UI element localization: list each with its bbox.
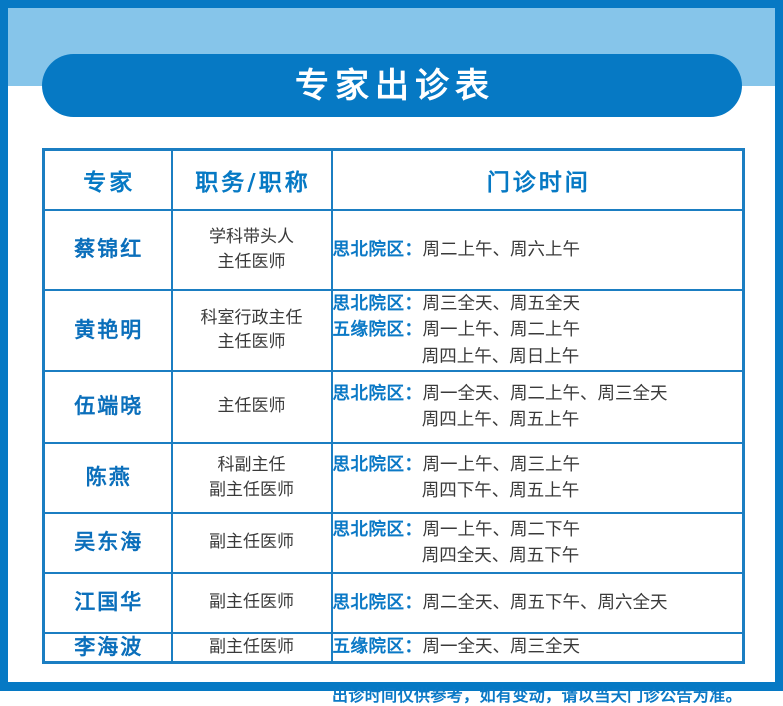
campus-label: 五缘院区：: [333, 320, 423, 340]
table-head: 专家 职务/职称 门诊时间: [44, 150, 744, 211]
schedule-text: 周一全天、周三全天: [423, 637, 581, 657]
schedule-line: 思北院区：周二全天、周五下午、周六全天: [333, 590, 743, 616]
schedule-text: 周一全天、周二上午、周三全天: [423, 384, 668, 404]
campus-schedule-group: 五缘院区：周一全天、周三全天: [333, 634, 743, 660]
schedule-line: 思北院区：周一上午、周二下午: [333, 517, 743, 543]
position-line: 主任医师: [173, 330, 331, 355]
campus-label: 思北院区：: [333, 384, 423, 404]
campus-label: 思北院区：: [333, 520, 423, 540]
schedule-text: 周四全天、周五下午: [422, 546, 580, 566]
schedule-text: 周三全天、周五全天: [423, 294, 581, 314]
expert-position: 主任医师: [172, 371, 332, 443]
campus-label: 思北院区：: [333, 240, 423, 260]
page-title: 专家出诊表: [289, 69, 495, 103]
clinic-time: 思北院区：周一全天、周二上午、周三全天思北院区：周四上午、周五上午: [332, 371, 744, 443]
column-header-expert: 专家: [44, 150, 172, 211]
footer-disclaimer: 出诊时间仅供参考，如有变动，请以当天门诊公告为准。: [42, 682, 742, 706]
clinic-time: 思北院区：周三全天、周五全天五缘院区：周一上午、周二上午五缘院区：周四上午、周日…: [332, 290, 744, 371]
clinic-time: 五缘院区：周一全天、周三全天: [332, 633, 744, 663]
expert-name: 伍端晓: [44, 371, 172, 443]
campus-schedule-group: 思北院区：周一全天、周二上午、周三全天思北院区：周四上午、周五上午: [333, 381, 743, 434]
schedule-line: 思北院区：周三全天、周五全天: [333, 291, 743, 317]
expert-name: 李海波: [44, 633, 172, 663]
campus-schedule-group: 思北院区：周一上午、周三上午思北院区：周四下午、周五上午: [333, 452, 743, 505]
position-line: 副主任医师: [173, 635, 331, 660]
position-line: 主任医师: [173, 250, 331, 275]
position-line: 科室行政主任: [173, 306, 331, 331]
table-row: 李海波副主任医师五缘院区：周一全天、周三全天: [44, 633, 744, 663]
expert-name: 江国华: [44, 573, 172, 633]
clinic-time: 思北院区：周一上午、周三上午思北院区：周四下午、周五上午: [332, 443, 744, 513]
poster-root: 专家出诊表 专家 职务/职称 门诊时间 蔡锦红学科带头人主任医师思北院区：周二上…: [0, 0, 783, 691]
expert-name: 蔡锦红: [44, 210, 172, 290]
schedule-line: 思北院区：周一全天、周二上午、周三全天: [333, 381, 743, 407]
title-banner: 专家出诊表: [42, 54, 742, 117]
schedule-text: 周一上午、周三上午: [423, 455, 581, 475]
schedule-text: 周一上午、周二上午: [423, 320, 581, 340]
campus-schedule-group: 思北院区：周一上午、周二下午思北院区：周四全天、周五下午: [333, 517, 743, 570]
table-header-row: 专家 职务/职称 门诊时间: [44, 150, 744, 211]
table-body: 蔡锦红学科带头人主任医师思北院区：周二上午、周六上午黄艳明科室行政主任主任医师思…: [44, 210, 744, 663]
campus-label: 思北院区：: [333, 593, 423, 613]
schedule-line: 思北院区：周四上午、周五上午: [333, 407, 743, 433]
clinic-time: 思北院区：周二全天、周五下午、周六全天: [332, 573, 744, 633]
table-row: 吴东海副主任医师思北院区：周一上午、周二下午思北院区：周四全天、周五下午: [44, 513, 744, 573]
expert-position: 科室行政主任主任医师: [172, 290, 332, 371]
campus-schedule-group: 思北院区：周二全天、周五下午、周六全天: [333, 590, 743, 616]
clinic-time: 思北院区：周二上午、周六上午: [332, 210, 744, 290]
schedule-line: 五缘院区：周四上午、周日上午: [333, 344, 743, 370]
table-row: 陈燕科副主任副主任医师思北院区：周一上午、周三上午思北院区：周四下午、周五上午: [44, 443, 744, 513]
schedule-text: 周四上午、周五上午: [422, 410, 580, 430]
header-section: 专家出诊表: [8, 8, 775, 120]
expert-position: 副主任医师: [172, 573, 332, 633]
schedule-table-zone: 专家 职务/职称 门诊时间 蔡锦红学科带头人主任医师思北院区：周二上午、周六上午…: [8, 120, 775, 664]
column-header-position: 职务/职称: [172, 150, 332, 211]
expert-position: 副主任医师: [172, 513, 332, 573]
position-line: 主任医师: [173, 394, 331, 419]
campus-label: 思北院区：: [333, 455, 423, 475]
position-line: 副主任医师: [173, 478, 331, 503]
table-row: 黄艳明科室行政主任主任医师思北院区：周三全天、周五全天五缘院区：周一上午、周二上…: [44, 290, 744, 371]
schedule-line: 思北院区：周四全天、周五下午: [333, 543, 743, 569]
schedule-line: 思北院区：周一上午、周三上午: [333, 452, 743, 478]
table-row: 蔡锦红学科带头人主任医师思北院区：周二上午、周六上午: [44, 210, 744, 290]
campus-schedule-group: 思北院区：周三全天、周五全天: [333, 291, 743, 317]
expert-position: 科副主任副主任医师: [172, 443, 332, 513]
campus-schedule-group: 五缘院区：周一上午、周二上午五缘院区：周四上午、周日上午: [333, 317, 743, 370]
campus-schedule-group: 思北院区：周二上午、周六上午: [333, 237, 743, 263]
position-line: 副主任医师: [173, 590, 331, 615]
clinic-time: 思北院区：周一上午、周二下午思北院区：周四全天、周五下午: [332, 513, 744, 573]
expert-position: 学科带头人主任医师: [172, 210, 332, 290]
expert-name: 吴东海: [44, 513, 172, 573]
schedule-text: 周一上午、周二下午: [423, 520, 581, 540]
expert-name: 陈燕: [44, 443, 172, 513]
schedule-line: 思北院区：周四下午、周五上午: [333, 478, 743, 504]
schedule-line: 五缘院区：周一全天、周三全天: [333, 634, 743, 660]
position-line: 学科带头人: [173, 225, 331, 250]
schedule-text: 周四上午、周日上午: [422, 347, 580, 367]
expert-schedule-table: 专家 职务/职称 门诊时间 蔡锦红学科带头人主任医师思北院区：周二上午、周六上午…: [42, 148, 745, 664]
campus-label: 思北院区：: [333, 294, 423, 314]
position-line: 副主任医师: [173, 530, 331, 555]
table-row: 江国华副主任医师思北院区：周二全天、周五下午、周六全天: [44, 573, 744, 633]
schedule-line: 五缘院区：周一上午、周二上午: [333, 317, 743, 343]
expert-name: 黄艳明: [44, 290, 172, 371]
table-row: 伍端晓主任医师思北院区：周一全天、周二上午、周三全天思北院区：周四上午、周五上午: [44, 371, 744, 443]
expert-position: 副主任医师: [172, 633, 332, 663]
schedule-line: 思北院区：周二上午、周六上午: [333, 237, 743, 263]
schedule-text: 周二全天、周五下午、周六全天: [423, 593, 668, 613]
column-header-clinic-time: 门诊时间: [332, 150, 744, 211]
schedule-text: 周二上午、周六上午: [423, 240, 581, 260]
campus-label: 五缘院区：: [333, 637, 423, 657]
position-line: 科副主任: [173, 453, 331, 478]
schedule-text: 周四下午、周五上午: [422, 481, 580, 501]
